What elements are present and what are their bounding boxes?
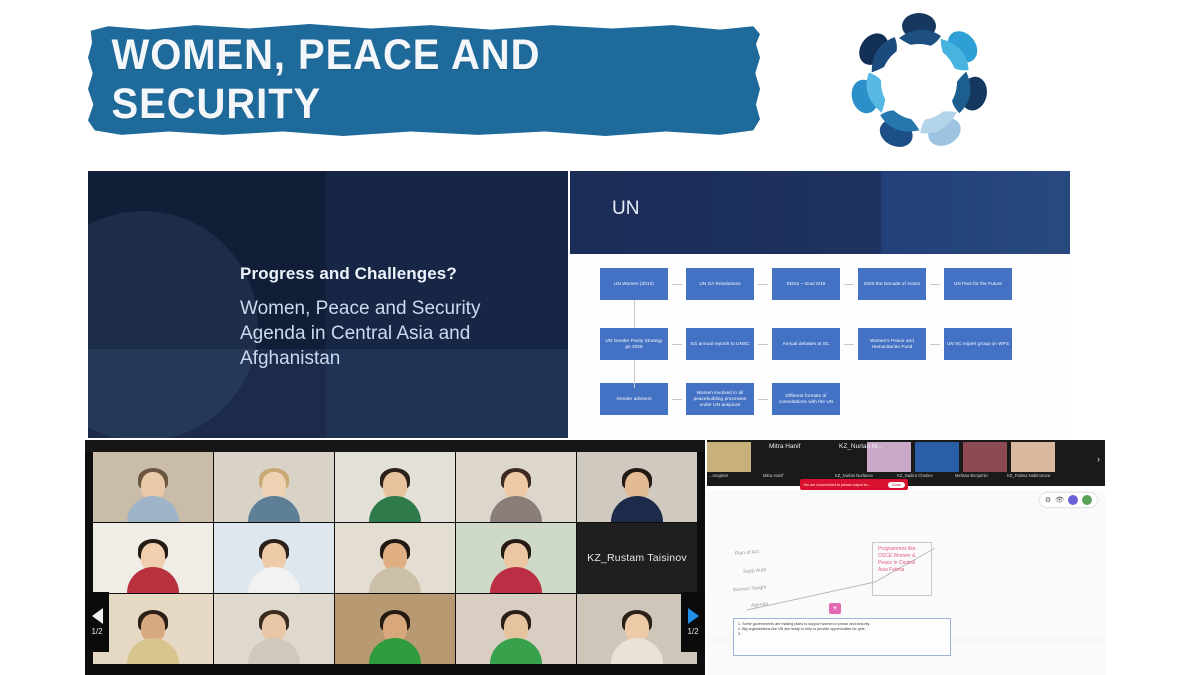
connector-line (634, 300, 635, 328)
participant-tile[interactable] (214, 452, 334, 522)
un-diagram-box: Annual debates at SC (772, 328, 840, 360)
filmstrip-name-small: KZ_Nurlan Nurlanov (835, 473, 873, 478)
un-diagram-box: UN Women (2010) (600, 268, 668, 300)
connector-line (672, 399, 682, 400)
alert-banner: You are reconnected to please output for… (800, 479, 908, 490)
participant-tile[interactable] (335, 523, 455, 593)
un-diagram-row: UN Women (2010)UN GA ResolutionsSDGs – G… (600, 268, 1012, 300)
participant-tile[interactable] (214, 594, 334, 664)
participant-tile[interactable] (214, 523, 334, 593)
filmstrip-name: Mitra Hanif (769, 443, 800, 450)
left-arrow-icon (92, 608, 103, 624)
alert-close-button[interactable]: Close (888, 482, 905, 488)
page-indicator-left: 1/2 (91, 627, 102, 636)
un-diagram-box: Different formats of consultations with … (772, 383, 840, 415)
whiteboard-app-panel: Mitra HanifKZ_Nurlan M......oroglessMitr… (707, 440, 1105, 675)
un-diagram-box: UN Pact for the Future (944, 268, 1012, 300)
connector-line (758, 344, 768, 345)
presentation-slide-title: Progress and Challenges? Women, Peace an… (88, 171, 568, 438)
connector-line (758, 284, 768, 285)
video-grid-topbar (85, 440, 705, 452)
un-diagram-box: UN Gender Parity Strategy до 2028 (600, 328, 668, 360)
un-diagram-box: Women's Peace and Humanitarian Fund (858, 328, 926, 360)
filmstrip-thumbnail[interactable] (963, 442, 1007, 472)
banner-title: WOMEN, PEACE AND SECURITY (112, 24, 737, 136)
slide-heading: Women, Peace and Security Agenda in Cent… (240, 296, 540, 371)
un-diagram-box: SG annual reports to UNSC (686, 328, 754, 360)
connector-line (844, 344, 854, 345)
video-conference-grid: KZ_Rustam Taisinov 1/2 1/2 (85, 440, 705, 675)
participant-tile[interactable] (93, 594, 213, 664)
un-diagram-row: UN Gender Parity Strategy до 2028SG annu… (600, 328, 1012, 360)
connector-line (672, 284, 682, 285)
connector-line (758, 399, 768, 400)
logo-svg (812, 4, 1027, 164)
un-diagram-box: UN SC expert group on WPS (944, 328, 1012, 360)
filmstrip-name: KZ_Nurlan M... (839, 443, 883, 450)
connector-line (930, 284, 940, 285)
whiteboard-note-line: 3. (738, 632, 946, 637)
filmstrip-name-small: Melissa Benjamin (955, 473, 988, 478)
un-diagram-box: UN GA Resolutions (686, 268, 754, 300)
participant-tile[interactable] (577, 594, 697, 664)
connector-line (930, 344, 940, 345)
filmstrip-name-small: Mitra Hanif (763, 473, 783, 478)
un-slide-header (570, 171, 1070, 254)
participant-tile[interactable] (335, 594, 455, 664)
filmstrip-name-small: ...orogless (709, 473, 728, 478)
participant-tile[interactable] (335, 452, 455, 522)
comment-icon[interactable]: ☀ (829, 603, 841, 614)
connector-line (672, 344, 682, 345)
participant-tile[interactable] (93, 523, 213, 593)
participant-tile[interactable] (577, 452, 697, 522)
whiteboard-note-lines: 1. Some governments are making plans to … (738, 622, 946, 638)
chevron-right-icon[interactable]: › (1097, 454, 1100, 464)
participant-tiles: KZ_Rustam Taisinov (93, 452, 697, 664)
un-diagram-box: Women involved in all peacebuilding proc… (686, 383, 754, 415)
un-diagram-box: SDGs – Goal 5/16 (772, 268, 840, 300)
un-slide-title: UN (612, 198, 639, 220)
connector-line (634, 360, 635, 388)
participant-tile[interactable] (456, 452, 576, 522)
alert-message: You are reconnected to please output for… (803, 483, 888, 487)
whiteboard-canvas[interactable]: ⚙ 👁 Programmes like OSCE Women & Peace i… (707, 490, 1105, 675)
banner-row: WOMEN, PEACE AND SECURITY (0, 0, 1200, 168)
page-indicator-right: 1/2 (687, 627, 698, 636)
un-diagram-row: Gender advisersWomen involved in all pea… (600, 383, 840, 415)
participant-tile[interactable] (456, 594, 576, 664)
participant-tile-name-only[interactable]: KZ_Rustam Taisinov (577, 523, 697, 593)
presentation-slide-un-diagram: UN UN Women (2010)UN GA ResolutionsSDGs … (570, 171, 1070, 438)
next-page-button[interactable]: 1/2 (681, 592, 705, 652)
filmstrip-name-small: KZ_Nadira Chariev (897, 473, 933, 478)
whiteboard-scribble: Agenda (751, 601, 769, 609)
participant-tile[interactable] (456, 523, 576, 593)
filmstrip-thumbnail[interactable] (915, 442, 959, 472)
un-diagram-box: 2020-the Decade of Action (858, 268, 926, 300)
prev-page-button[interactable]: 1/2 (85, 592, 109, 652)
filmstrip-name-small: KZ_Fatima Nabinurova (1007, 473, 1050, 478)
filmstrip-thumbnail[interactable] (1011, 442, 1055, 472)
filmstrip-thumbnail[interactable] (707, 442, 751, 472)
participant-tile[interactable] (93, 452, 213, 522)
circle-of-people-logo (812, 4, 1027, 164)
participant-name: KZ_Rustam Taisinov (587, 552, 687, 564)
whiteboard-red-note-text: Programmes like OSCE Women & Peace in Ce… (878, 546, 924, 574)
connector-line (844, 284, 854, 285)
right-arrow-icon (688, 608, 699, 624)
slide-kicker: Progress and Challenges? (240, 264, 457, 284)
whiteboard-note-box[interactable]: 1. Some governments are making plans to … (733, 618, 951, 656)
